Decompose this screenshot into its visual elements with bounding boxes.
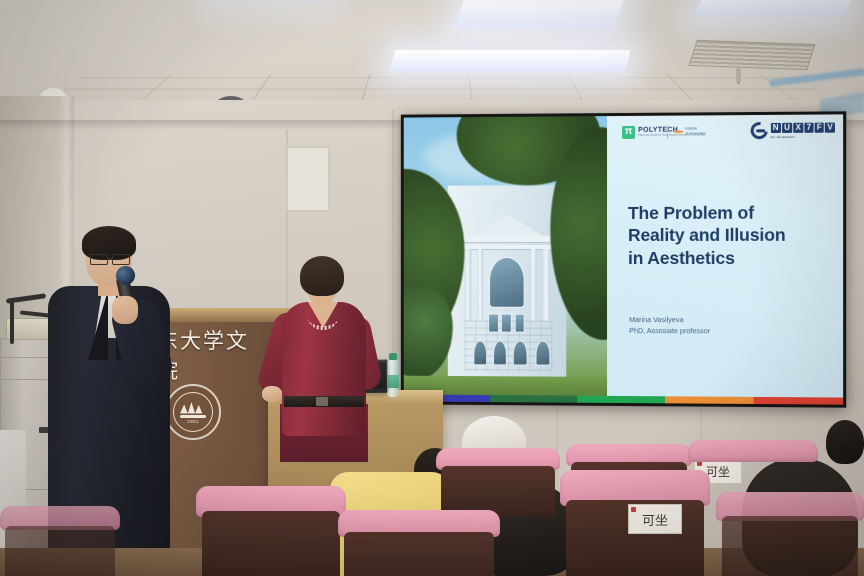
ceiling-light-1: [454, 0, 626, 28]
pearl-necklace-inner: [310, 312, 336, 330]
male-speaker-hand: [112, 296, 138, 324]
slide-text-panel: π POLYTECH Peter the Great St. Petersbur…: [607, 114, 843, 404]
pi-icon: π: [622, 126, 635, 139]
nux-letter: V: [825, 123, 835, 133]
seat-backrest: [722, 516, 858, 576]
projection-screen: π POLYTECH Peter the Great St. Petersbur…: [401, 111, 846, 407]
slide-logo-bar: π POLYTECH Peter the Great St. Petersbur…: [607, 114, 843, 153]
female-speaker-hand: [262, 386, 282, 402]
eyeglasses-left-lens: [90, 254, 108, 265]
ceiling-light-4: [207, 0, 333, 2]
eyeglasses-right-lens: [112, 254, 130, 265]
seal-year: 1901: [187, 419, 199, 424]
nux-tagline: for Aesthetics: [771, 134, 835, 138]
seat-backrest: [5, 526, 115, 576]
wall-notice-board: [286, 146, 330, 212]
institute-bars-icon: [674, 130, 683, 133]
seat-row-front-1[interactable]: [196, 486, 346, 576]
slide-author-role: PhD, Assosiate professor: [629, 325, 827, 337]
seat-backrest: [202, 511, 340, 576]
air-conditioning-vent: [688, 40, 815, 70]
slide-building: [448, 185, 566, 380]
seat-label-dot-icon: [631, 507, 636, 512]
belt-buckle: [316, 397, 328, 406]
logo-divider: [667, 125, 668, 138]
lecture-hall-photo: π POLYTECH Peter the Great St. Petersbur…: [0, 0, 864, 576]
female-speaker-hair: [300, 256, 344, 296]
bottle-cap: [389, 353, 397, 360]
eyeglasses-bridge: [107, 258, 113, 260]
university-seal: 1901: [165, 384, 221, 440]
nux-letter: F: [815, 123, 824, 133]
slide-author-name: Marina Vasilyeva: [629, 314, 827, 326]
nux-letter: 7: [805, 123, 814, 133]
bottle-label: [387, 375, 399, 388]
ceiling-light-3: [694, 0, 856, 16]
color-bar-segment: [577, 395, 665, 403]
color-bar-segment: [490, 395, 577, 403]
slide-building-photo: [404, 116, 608, 403]
nux-letters: N U X 7 F V: [771, 123, 835, 134]
seat-label-lower: 可坐: [628, 504, 682, 534]
seal-wave-icon: [180, 415, 206, 418]
seat-label-text: 可坐: [642, 510, 668, 529]
nux-logo: N U X 7 F V for Aesthetics: [750, 122, 834, 140]
microphone-stand: [10, 300, 14, 344]
slide-title: The Problem of Reality and Illusion in A…: [628, 201, 826, 269]
seat-row-front-4[interactable]: [716, 492, 864, 576]
nux-letter: X: [794, 123, 803, 133]
ceiling-light-2: [389, 50, 630, 72]
sprinkler-head: [736, 68, 741, 82]
seal-mountain-icon: [180, 401, 206, 414]
seat-row-front-2[interactable]: [338, 510, 500, 576]
nux-letter: N: [771, 123, 781, 133]
water-bottle: [387, 359, 399, 397]
institute-of-humanities-logo: Institute of Humanities: [674, 127, 706, 136]
seat-row-front-0[interactable]: [0, 506, 120, 576]
slide-title-line: in Aesthetics: [628, 247, 826, 270]
seat-row-back-1[interactable]: [436, 448, 560, 514]
slide-title-line: Reality and Illusion: [628, 224, 826, 247]
nux-letter: U: [782, 123, 792, 133]
slide-author-block: Marina Vasilyeva PhD, Assosiate professo…: [629, 314, 827, 337]
institute-line-2: of Humanities: [685, 131, 706, 136]
nux-ring-icon: [747, 119, 771, 143]
color-bar-segment: [665, 396, 754, 404]
color-bar-segment: [754, 396, 843, 404]
slide-title-line: The Problem of: [628, 201, 826, 224]
audience-head-right-back: [826, 420, 864, 464]
seat-backrest: [344, 532, 493, 576]
